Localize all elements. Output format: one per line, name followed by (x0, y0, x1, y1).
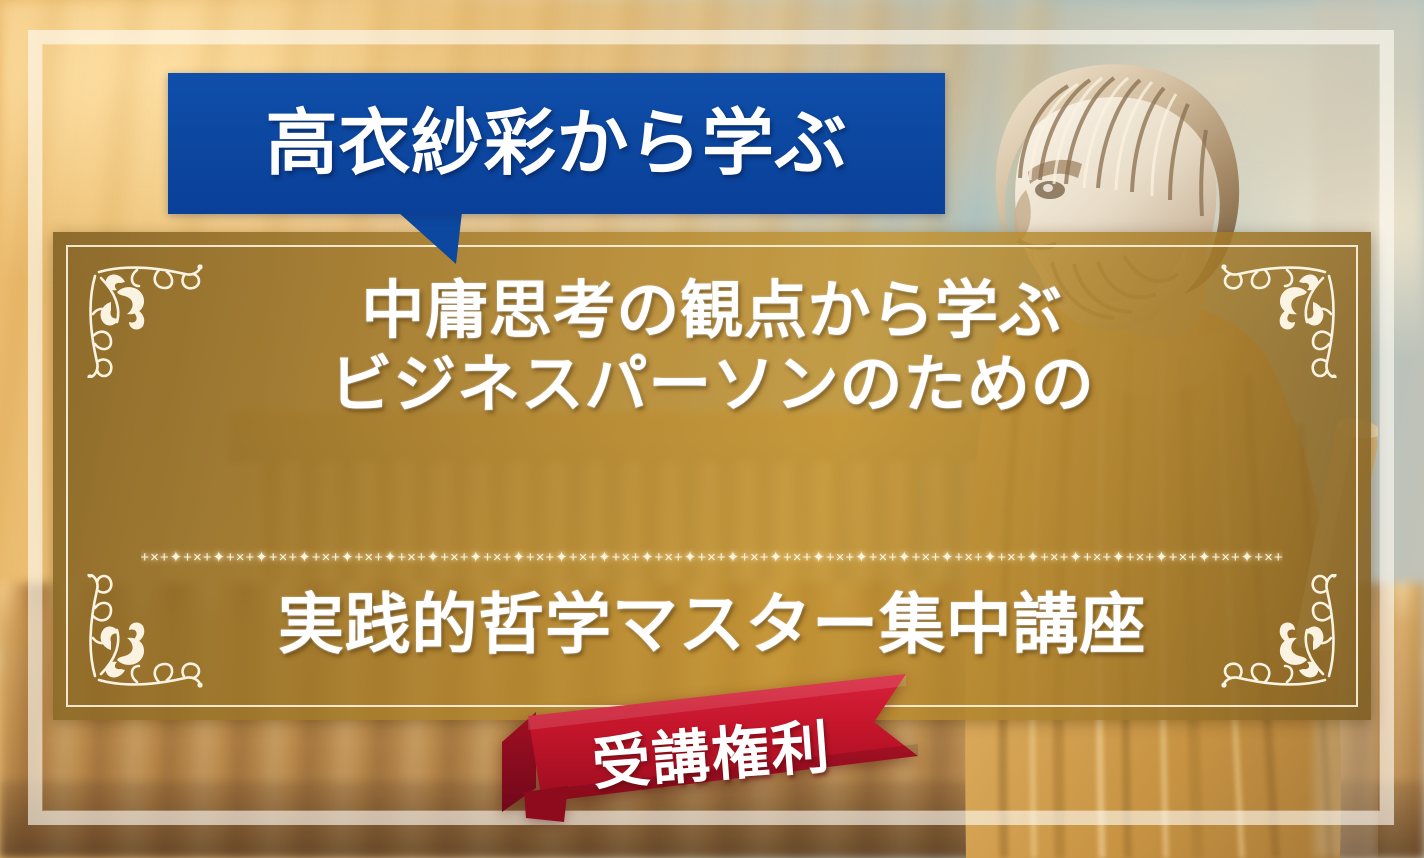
sparkle-divider-icon: ✦+×+✦+×+✦+×+✦+×+✦+×+✦+×+✦+×+✦+×+✦+×+✦+×+… (141, 548, 1283, 566)
headline-line-3: 実践的哲学マスター集中講座 (111, 586, 1313, 664)
headline-line-1: 中庸思考の観点から学ぶ (111, 274, 1313, 348)
headline-block-lower: 実践的哲学マスター集中講座 (53, 586, 1371, 664)
speech-bubble-banner: 高衣紗彩から学ぶ (168, 73, 945, 214)
banner-canvas: 中庸思考の観点から学ぶ ビジネスパーソンのための ✦+×+✦+×+✦+×+✦+×… (0, 0, 1424, 858)
speech-bubble-tail-icon (398, 212, 462, 266)
headline-line-2: ビジネスパーソンのための (111, 348, 1313, 422)
red-ribbon-badge: 受講権利 (502, 672, 932, 824)
headline-block: 中庸思考の観点から学ぶ ビジネスパーソンのための (53, 274, 1371, 423)
speech-bubble-text: 高衣紗彩から学ぶ (266, 108, 848, 180)
gold-content-panel: 中庸思考の観点から学ぶ ビジネスパーソンのための ✦+×+✦+×+✦+×+✦+×… (53, 232, 1371, 720)
